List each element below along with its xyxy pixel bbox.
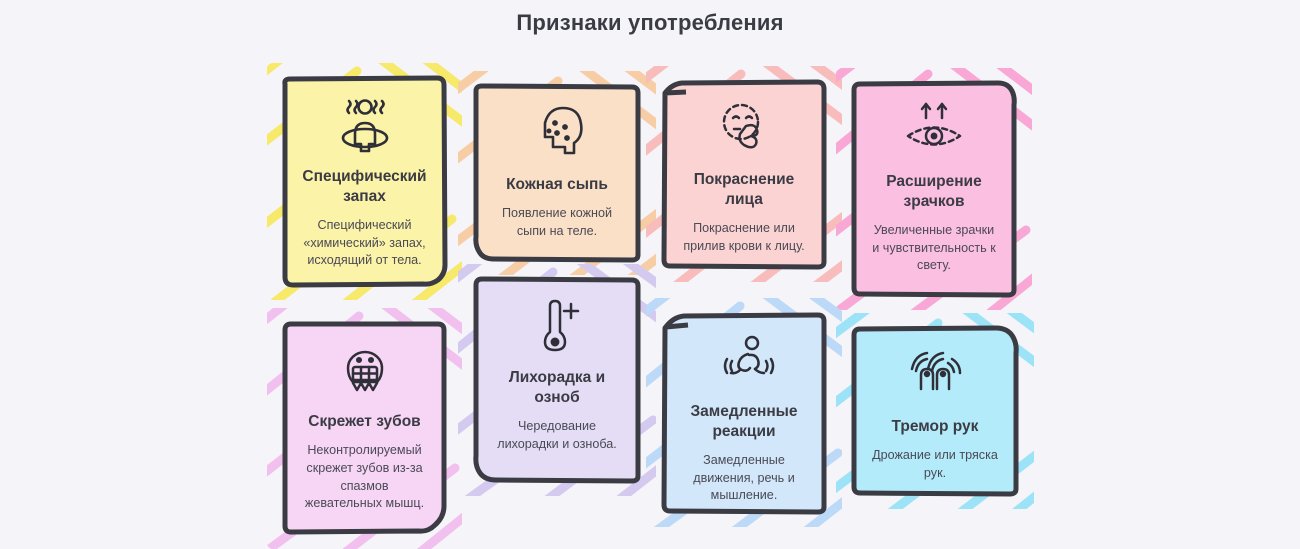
card-slowed-reactions[interactable]: Замедленные реакции Замедленные движения… bbox=[660, 310, 828, 515]
card-teeth-grinding[interactable]: Скрежет зубов Неконтролируемый скрежет з… bbox=[281, 320, 448, 537]
head-rash-icon bbox=[521, 101, 593, 163]
person-odor-icon bbox=[329, 93, 401, 155]
card-description: Неконтролируемый скрежет зубов из-за спа… bbox=[295, 442, 434, 514]
card-description: Покраснение или прилив крови к лицу. bbox=[674, 220, 814, 256]
card-description: Дрожание или тряска рук. bbox=[864, 447, 1006, 483]
dilated-eye-icon bbox=[898, 98, 970, 160]
signs-card-board: Специфический запах Специфический «химич… bbox=[0, 0, 1300, 546]
card-facial-redness[interactable]: Покраснение лица Покраснение или прилив … bbox=[660, 78, 828, 270]
card-fever-chills[interactable]: Лихорадка и озноб Чередование лихорадки … bbox=[472, 276, 642, 484]
card-title: Замедленные реакции bbox=[674, 402, 814, 442]
card-description: Чередование лихорадки и озноба. bbox=[486, 418, 628, 454]
card-title: Расширение зрачков bbox=[864, 172, 1004, 212]
card-dilated-pupils[interactable]: Расширение зрачков Увеличенные зрачки и … bbox=[850, 80, 1018, 298]
card-title: Тремор рук bbox=[888, 417, 983, 437]
running-figure-icon bbox=[708, 328, 780, 390]
card-hand-tremor[interactable]: Тремор рук Дрожание или тряска рук. bbox=[850, 325, 1020, 497]
card-description: Специфический «химический» запах, исходя… bbox=[295, 217, 434, 271]
flushed-face-icon bbox=[708, 96, 780, 158]
card-title: Скрежет зубов bbox=[304, 412, 424, 432]
card-title: Специфический запах bbox=[295, 167, 434, 207]
grinding-teeth-icon bbox=[329, 338, 401, 400]
card-specific-odor[interactable]: Специфический запах Специфический «химич… bbox=[281, 75, 448, 288]
card-description: Появление кожной сыпи на теле. bbox=[486, 205, 628, 241]
trembling-hands-icon bbox=[899, 343, 971, 405]
card-skin-rash[interactable]: Кожная сыпь Появление кожной сыпи на тел… bbox=[472, 83, 642, 263]
thermometer-icon bbox=[521, 294, 593, 356]
card-description: Увеличенные зрачки и чувствительность к … bbox=[864, 222, 1004, 276]
card-title: Покраснение лица bbox=[674, 170, 814, 210]
card-title: Кожная сыпь bbox=[502, 175, 612, 195]
card-title: Лихорадка и озноб bbox=[486, 368, 628, 408]
card-description: Замедленные движения, речь и мышление. bbox=[674, 452, 814, 506]
